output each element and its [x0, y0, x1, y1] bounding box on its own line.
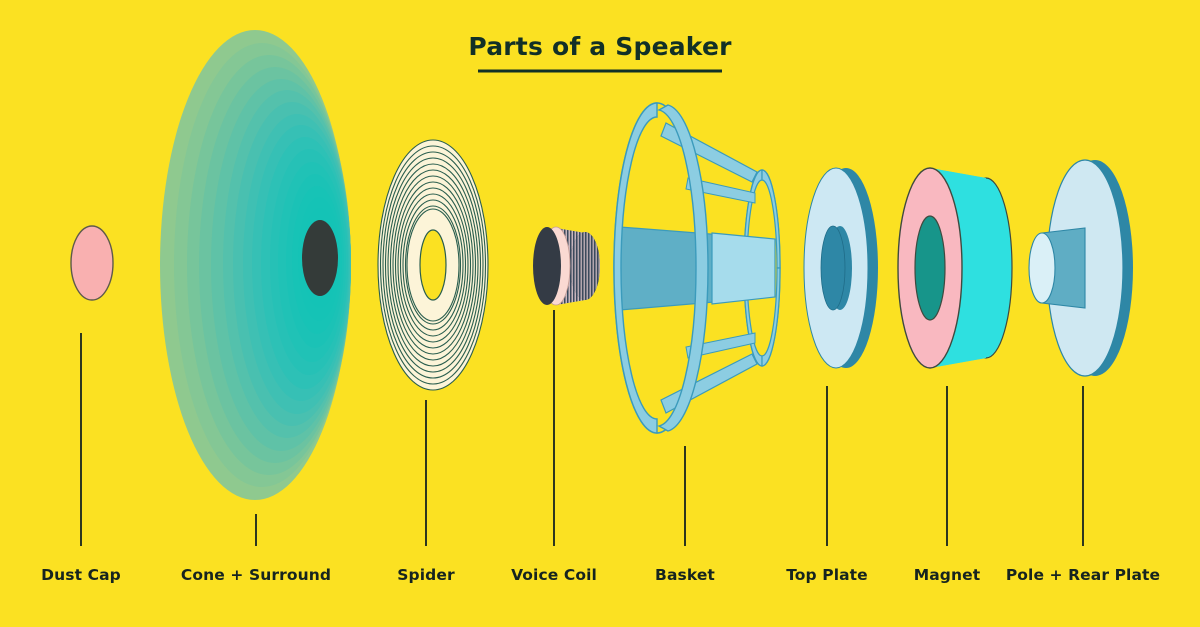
- part-spider[interactable]: [378, 140, 488, 390]
- spider-center-hole: [420, 230, 446, 300]
- magnet-center-hole: [915, 216, 945, 320]
- part-voice-coil[interactable]: [533, 227, 600, 305]
- dust-cap-shape: [71, 226, 113, 300]
- pole-piece-cap: [1029, 233, 1055, 303]
- cone-center-cap-seat: [302, 220, 338, 296]
- voice-coil-front-face: [533, 227, 561, 305]
- label-dust-cap: Dust Cap: [41, 566, 121, 584]
- label-pole-rear-plate: Pole + Rear Plate: [1006, 566, 1160, 584]
- part-cone-surround[interactable]: [160, 30, 351, 500]
- top-plate-hole: [821, 226, 845, 310]
- label-basket: Basket: [655, 566, 715, 584]
- label-top-plate: Top Plate: [786, 566, 868, 584]
- basket-mid-band-light: [712, 233, 775, 304]
- part-magnet[interactable]: [898, 168, 1012, 368]
- part-top-plate[interactable]: [804, 168, 878, 368]
- label-voice-coil: Voice Coil: [511, 566, 597, 584]
- page-title-text: Parts of a Speaker: [468, 32, 732, 61]
- exploded-speaker-diagram: Parts of a Speaker: [0, 0, 1200, 627]
- voice-coil-rear-winding: [570, 232, 600, 300]
- label-cone-surround: Cone + Surround: [181, 566, 331, 584]
- label-magnet: Magnet: [914, 566, 981, 584]
- label-spider: Spider: [397, 566, 455, 584]
- speaker-parts-infographic: Parts of a Speaker: [0, 0, 1200, 627]
- part-dust-cap[interactable]: [71, 226, 113, 300]
